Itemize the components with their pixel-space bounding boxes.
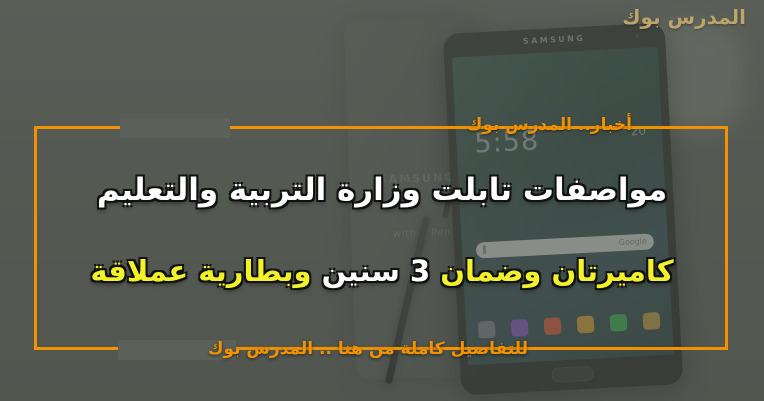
headline-title: مواصفات تابلت وزارة التربية والتعليم xyxy=(0,172,764,208)
promo-banner: SAMSUNG with S Pen SAMSUNG 5:58 20 Googl… xyxy=(0,0,764,401)
site-watermark: المدرس بوك xyxy=(622,5,746,29)
subhead-part-3: وبطارية عملاقة xyxy=(90,254,311,288)
eyebrow-label: أخبار.. المدرس بوك xyxy=(467,115,632,135)
subhead-part-2: 3 سنين xyxy=(322,254,431,288)
subhead-part-1: كاميرتان وضمان xyxy=(440,254,673,288)
frame-gap-top-left xyxy=(120,118,230,138)
cta-link[interactable]: للتفاصيل كاملة من هنا .. المدرس بوك xyxy=(208,339,528,359)
subheadline: كاميرتان وضمان 3 سنين وبطارية عملاقة xyxy=(0,254,764,288)
